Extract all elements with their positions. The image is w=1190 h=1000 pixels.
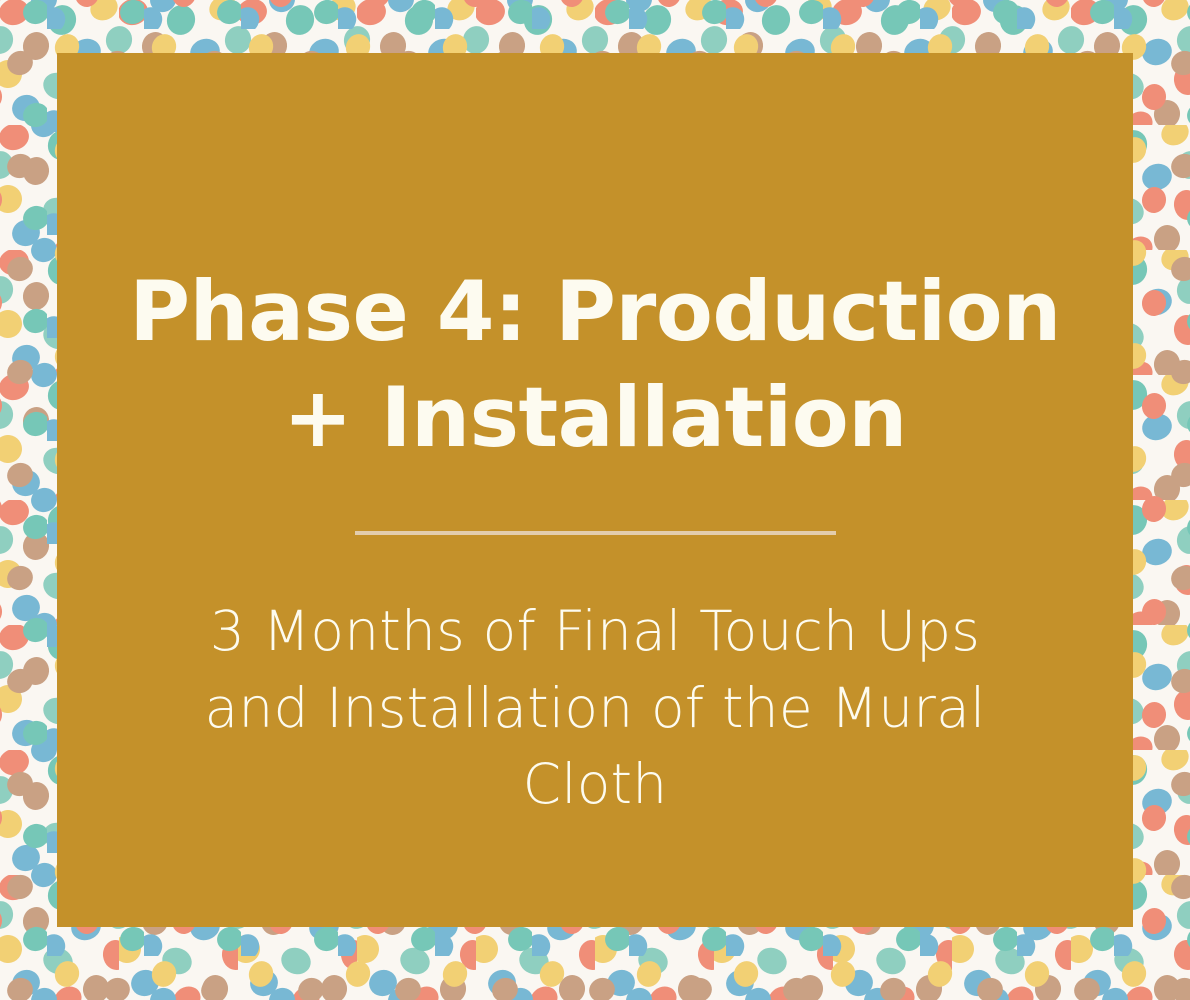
title-divider: [355, 531, 836, 535]
slide-canvas: Phase 4: Production + Installation 3 Mon…: [0, 0, 1190, 1000]
page-title: Phase 4: Production + Installation: [57, 259, 1133, 471]
panel-content: Phase 4: Production + Installation 3 Mon…: [57, 259, 1133, 823]
content-panel: Phase 4: Production + Installation 3 Mon…: [57, 53, 1133, 927]
page-subtitle: 3 Months of Final Touch Ups and Installa…: [57, 593, 1133, 822]
